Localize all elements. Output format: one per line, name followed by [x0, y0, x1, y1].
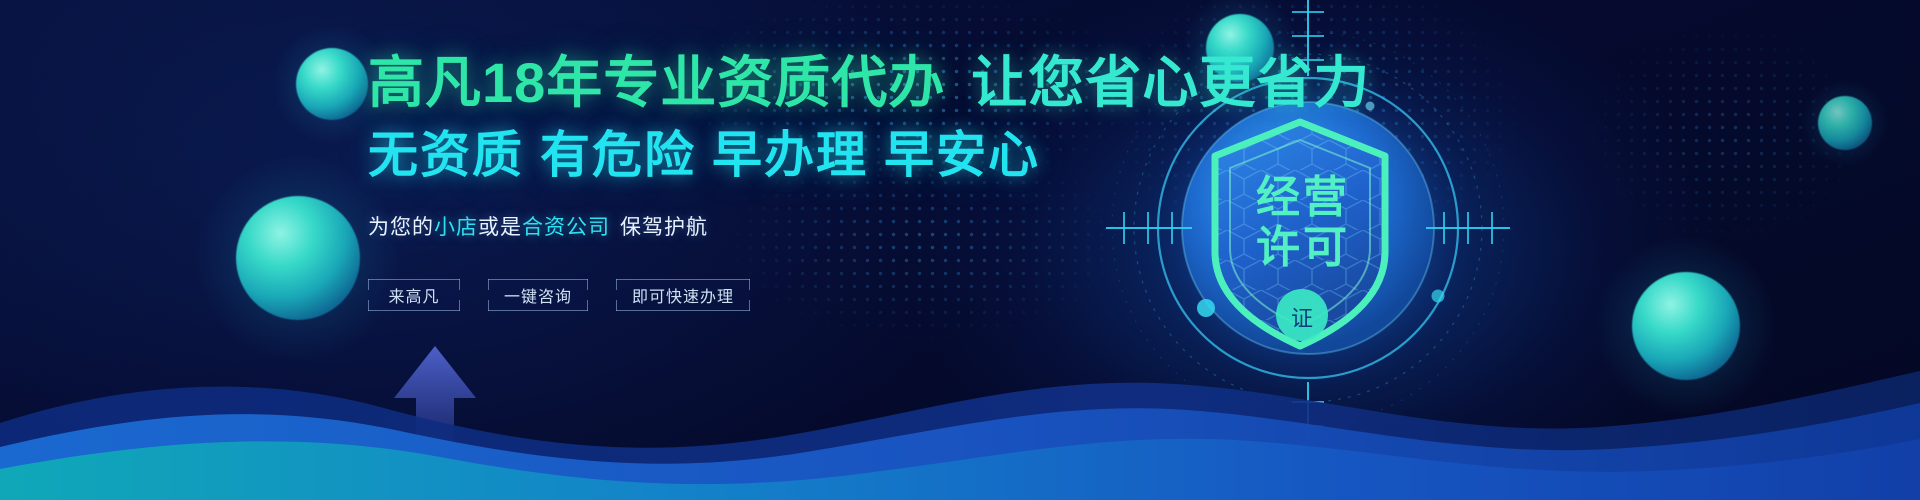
wave-shape-icon [0, 315, 1920, 500]
subtitle-highlight-company: 合资公司 [522, 216, 610, 239]
tag-item[interactable]: 即可快速办理 [616, 279, 750, 311]
headline-primary: 高凡18年专业资质代办让您省心更省力 [368, 52, 1188, 114]
tag-label: 即可快速办理 [632, 283, 734, 307]
tag-item[interactable]: 来高凡 [368, 279, 460, 311]
subtitle-prefix: 为您的 [368, 216, 434, 239]
subtitle: 为您的小店或是合资公司保驾护航 [368, 211, 1188, 241]
subtitle-highlight-shop: 小店 [434, 216, 478, 239]
subtitle-suffix: 保驾护航 [620, 216, 708, 239]
emblem-title-line1: 经营 [1256, 173, 1350, 222]
emblem-title-line2: 许可 [1256, 223, 1350, 272]
tag-label: 一键咨询 [504, 283, 572, 307]
headline-secondary-word: 早安心 [884, 127, 1040, 183]
subtitle-middle: 或是 [478, 216, 522, 239]
glow-sphere-icon [1818, 96, 1872, 150]
copy-block: 高凡18年专业资质代办让您省心更省力 无资质有危险早办理早安心 为您的小店或是合… [368, 52, 1188, 311]
tag-label: 来高凡 [388, 283, 439, 307]
tag-item[interactable]: 一键咨询 [488, 279, 588, 311]
headline-secondary-word: 无资质 [368, 127, 524, 183]
headline-secondary: 无资质有危险早办理早安心 [368, 128, 1188, 183]
promo-banner: 经营 许可 证 [0, 0, 1920, 500]
tag-list: 来高凡 一键咨询 即可快速办理 [368, 279, 1188, 311]
headline-primary-part1: 高凡18年专业资质代办 [368, 51, 945, 114]
glow-sphere-icon [236, 196, 360, 320]
headline-primary-part2: 让您省心更省力 [971, 51, 1370, 114]
glow-sphere-icon [296, 48, 368, 120]
headline-secondary-word: 早办理 [712, 127, 868, 183]
headline-secondary-word: 有危险 [540, 127, 696, 183]
